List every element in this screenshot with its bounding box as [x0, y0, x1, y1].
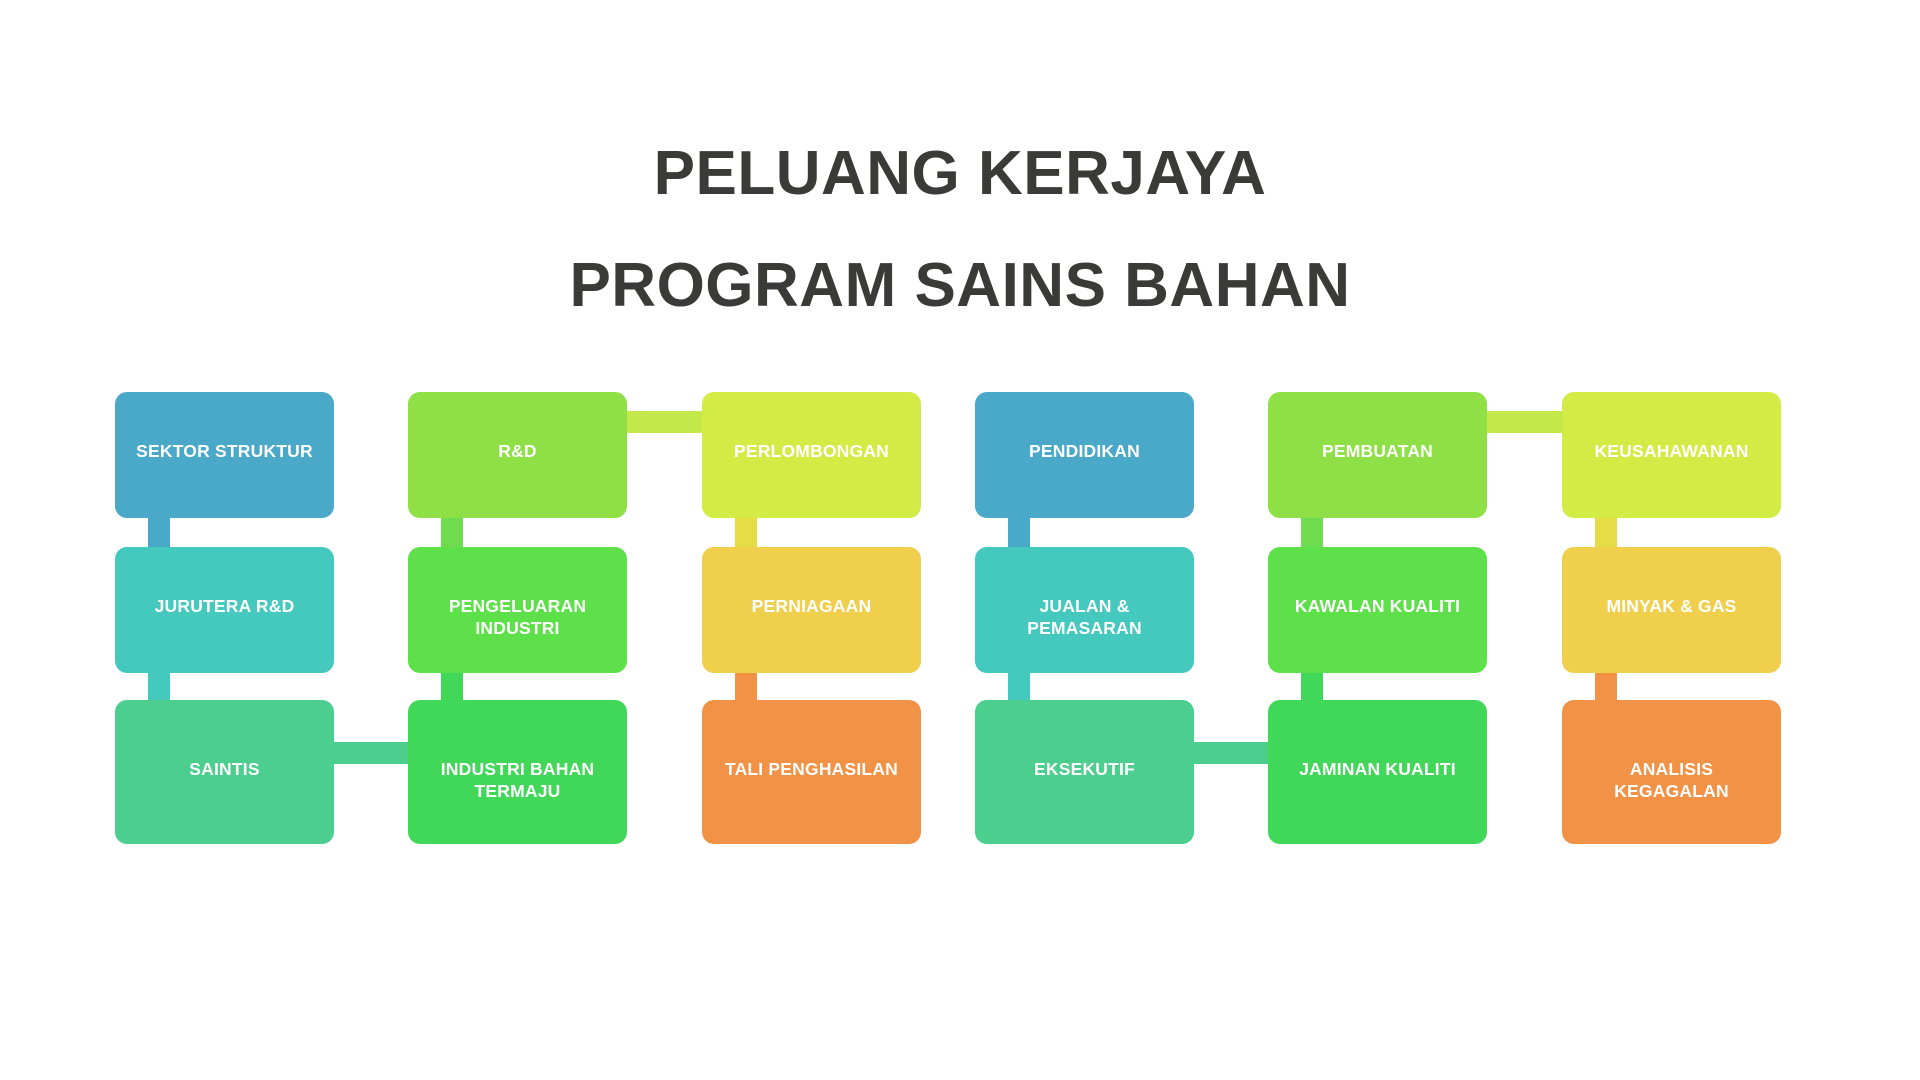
node-label: PENGELUARAN INDUSTRI	[418, 595, 617, 639]
node-label: KAWALAN KUALITI	[1278, 595, 1477, 617]
connector-horizontal	[1479, 411, 1570, 433]
connector-vertical	[1301, 514, 1323, 551]
node-label: KEUSAHAWANAN	[1572, 440, 1771, 462]
connector-vertical	[148, 669, 170, 704]
node-label: ANALISIS KEGAGALAN	[1572, 758, 1771, 802]
node-box[interactable]: EKSEKUTIF	[975, 700, 1194, 844]
connector-vertical	[148, 514, 170, 551]
node-box[interactable]: INDUSTRI BAHAN TERMAJU	[408, 700, 627, 844]
career-path-diagram: SEKTOR STRUKTURJURUTERA R&DSAINTISR&DPEN…	[0, 0, 1920, 1080]
node-label: INDUSTRI BAHAN TERMAJU	[418, 758, 617, 802]
connector-vertical	[1595, 669, 1617, 704]
node-box[interactable]: ANALISIS KEGAGALAN	[1562, 700, 1781, 844]
infographic-canvas: PELUANG KERJAYA PROGRAM SAINS BAHAN SEKT…	[0, 0, 1920, 1080]
node-box[interactable]: JURUTERA R&D	[115, 547, 334, 673]
node-box[interactable]: PENDIDIKAN	[975, 392, 1194, 518]
node-label: JUALAN & PEMASARAN	[985, 595, 1184, 639]
connector-vertical	[1595, 514, 1617, 551]
node-label: R&D	[418, 440, 617, 462]
node-box[interactable]: R&D	[408, 392, 627, 518]
connector-horizontal	[326, 742, 416, 764]
connector-vertical	[735, 669, 757, 704]
connector-vertical	[1301, 669, 1323, 704]
node-label: PERNIAGAAN	[712, 595, 911, 617]
node-box[interactable]: PEMBUATAN	[1268, 392, 1487, 518]
connector-vertical	[441, 514, 463, 551]
node-label: SAINTIS	[125, 758, 324, 780]
node-box[interactable]: SAINTIS	[115, 700, 334, 844]
node-box[interactable]: KAWALAN KUALITI	[1268, 547, 1487, 673]
node-box[interactable]: PERLOMBONGAN	[702, 392, 921, 518]
node-label: PERLOMBONGAN	[712, 440, 911, 462]
node-label: MINYAK & GAS	[1572, 595, 1771, 617]
connector-vertical	[1008, 669, 1030, 704]
node-label: EKSEKUTIF	[985, 758, 1184, 780]
connector-vertical	[441, 669, 463, 704]
connector-horizontal	[1186, 742, 1276, 764]
node-label: JURUTERA R&D	[125, 595, 324, 617]
node-box[interactable]: MINYAK & GAS	[1562, 547, 1781, 673]
connector-horizontal	[619, 411, 710, 433]
node-box[interactable]: SEKTOR STRUKTUR	[115, 392, 334, 518]
node-label: PEMBUATAN	[1278, 440, 1477, 462]
connector-vertical	[735, 514, 757, 551]
node-box[interactable]: JAMINAN KUALITI	[1268, 700, 1487, 844]
node-label: TALI PENGHASILAN	[712, 758, 911, 780]
node-label: PENDIDIKAN	[985, 440, 1184, 462]
node-box[interactable]: KEUSAHAWANAN	[1562, 392, 1781, 518]
node-box[interactable]: PERNIAGAAN	[702, 547, 921, 673]
node-label: SEKTOR STRUKTUR	[125, 440, 324, 462]
node-box[interactable]: TALI PENGHASILAN	[702, 700, 921, 844]
node-label: JAMINAN KUALITI	[1278, 758, 1477, 780]
connector-vertical	[1008, 514, 1030, 551]
node-box[interactable]: JUALAN & PEMASARAN	[975, 547, 1194, 673]
node-box[interactable]: PENGELUARAN INDUSTRI	[408, 547, 627, 673]
